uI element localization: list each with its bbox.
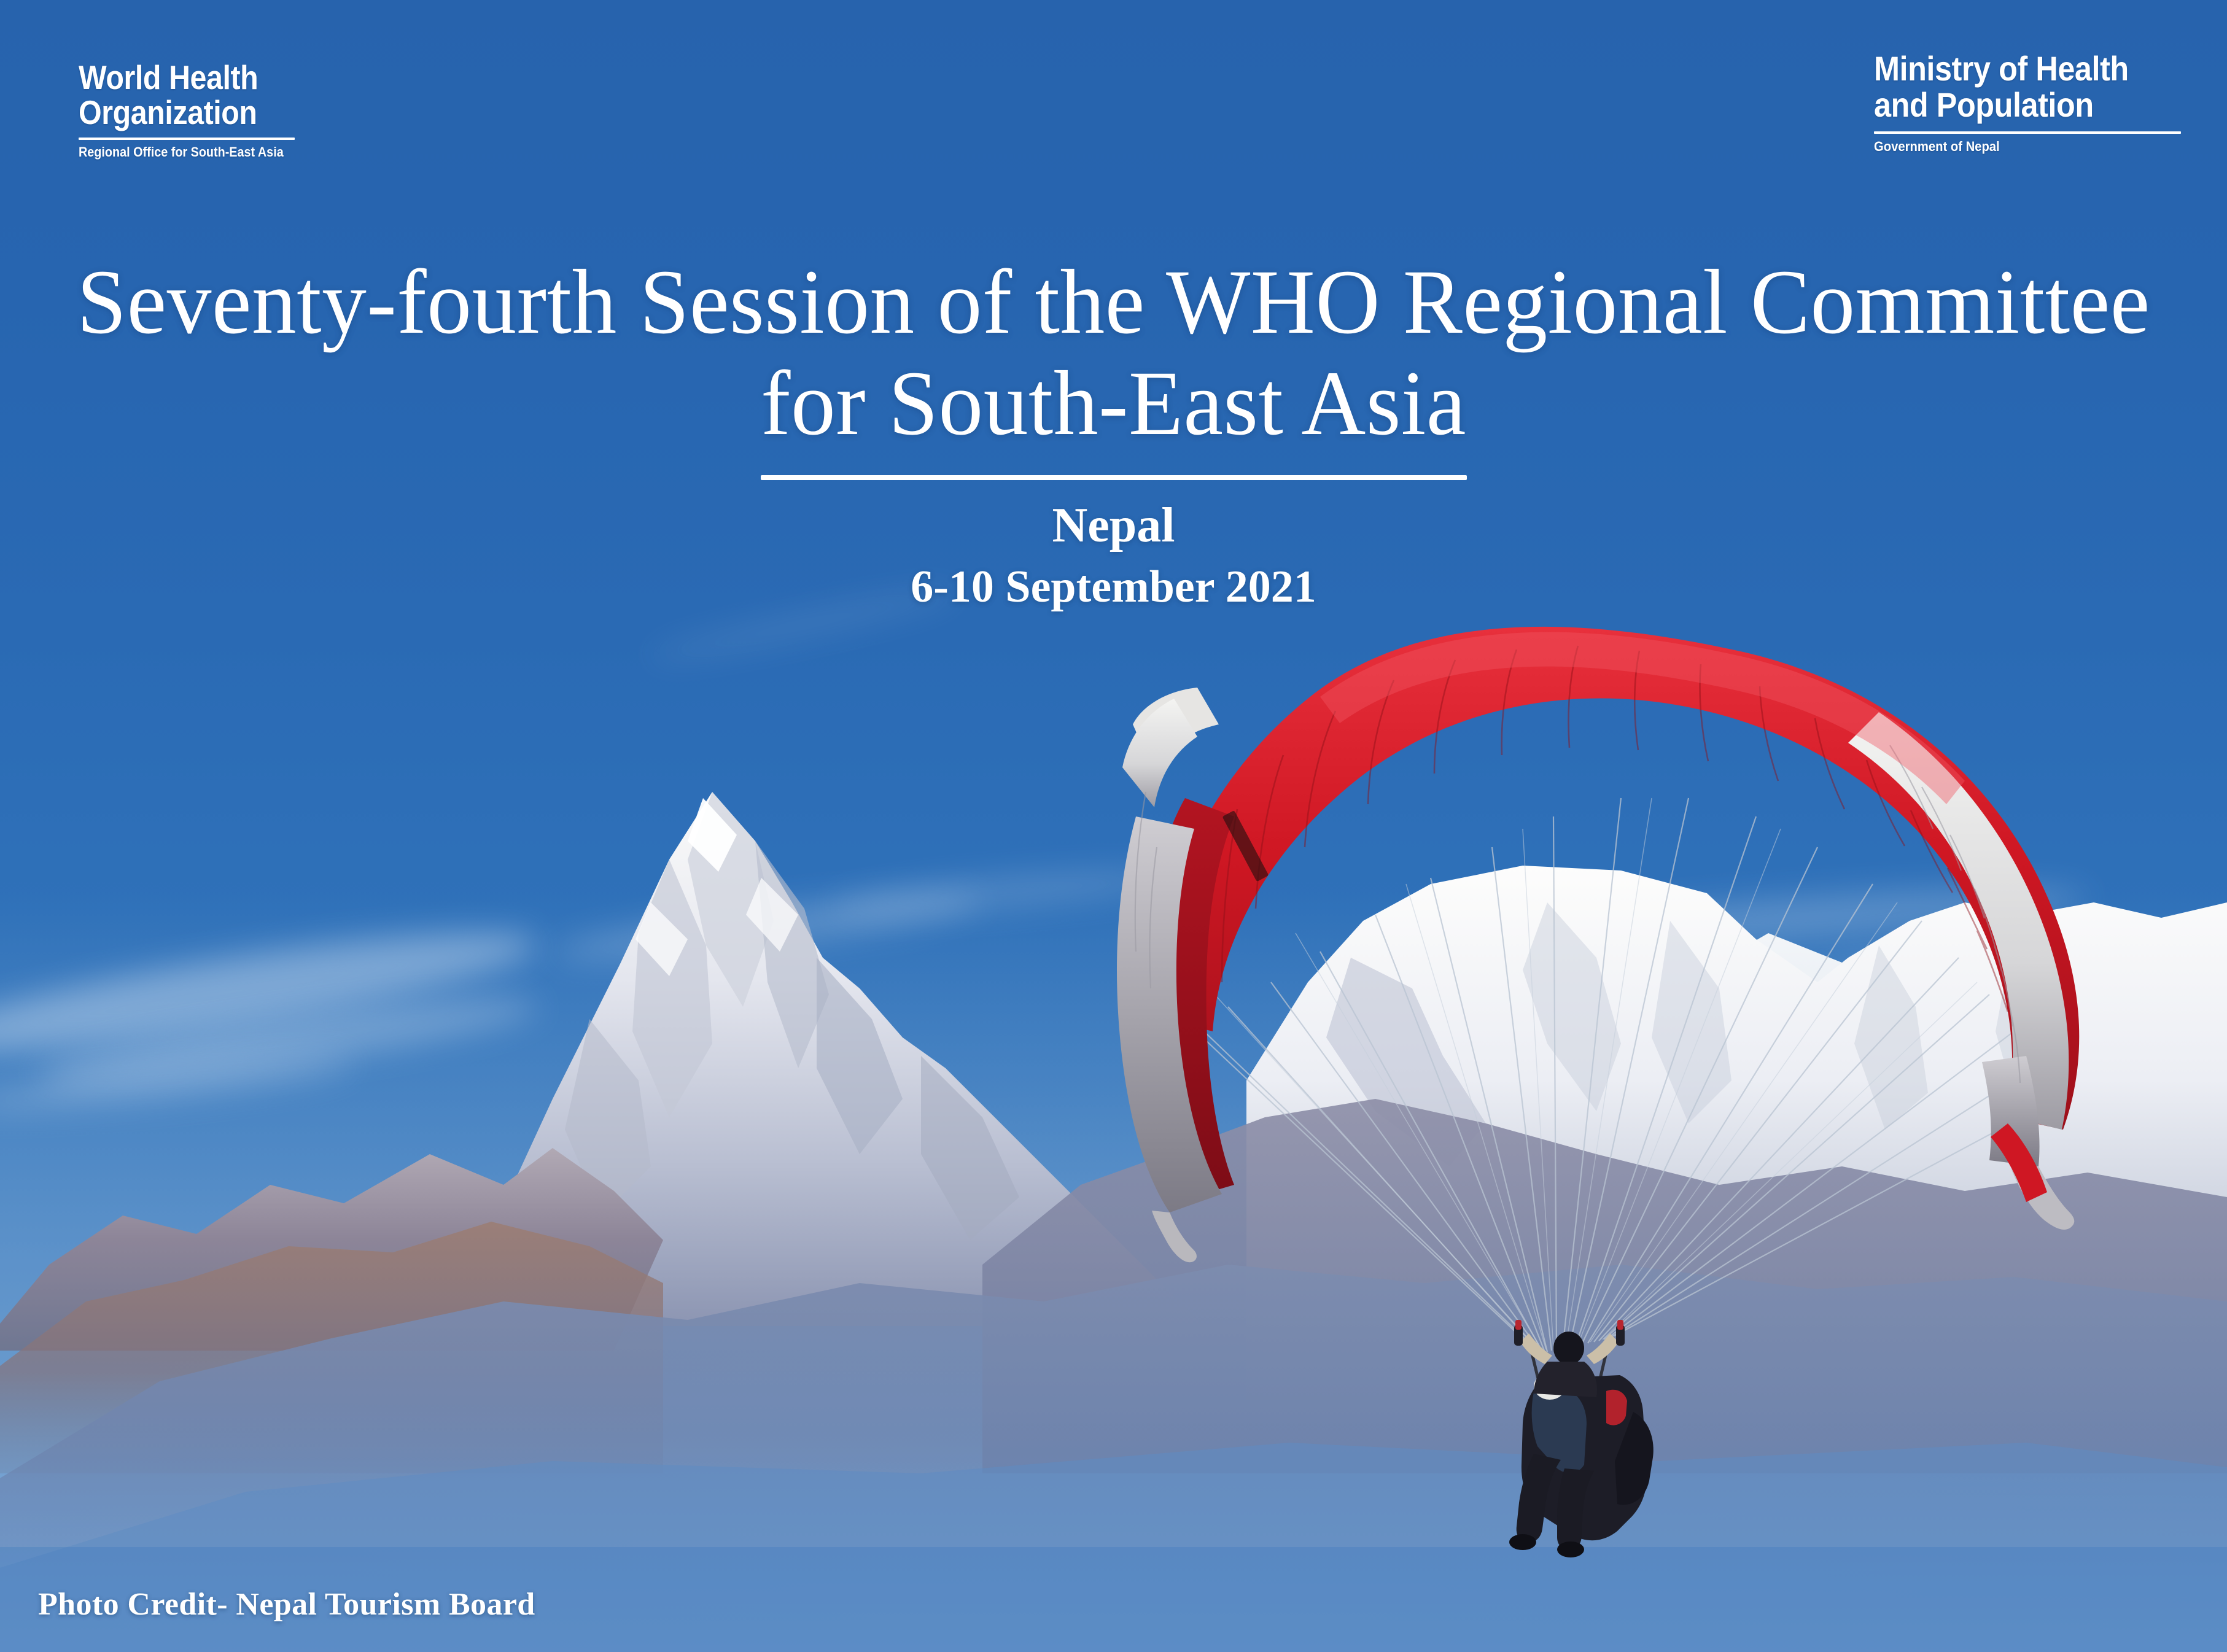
title-divider (761, 475, 1467, 480)
ministry-logo-line2: and Population (1874, 87, 2150, 123)
ministry-logo-divider (1874, 131, 2181, 134)
who-regional-committee-poster: World Health Organization Regional Offic… (0, 0, 2227, 1652)
ministry-logo-subtitle: Government of Nepal (1874, 140, 2156, 153)
event-location: Nepal (0, 498, 2227, 554)
title-block: Seventy-fourth Session of the WHO Region… (0, 252, 2227, 613)
who-logo-subtitle: Regional Office for South-East Asia (79, 145, 284, 159)
who-logo-divider (79, 138, 295, 140)
who-logo: World Health Organization Regional Offic… (79, 60, 306, 159)
who-logo-line1: World Health (79, 60, 279, 95)
ministry-of-health-logo: Ministry of Health and Population Govern… (1874, 50, 2181, 153)
event-dates: 6-10 September 2021 (0, 561, 2227, 613)
page-title: Seventy-fourth Session of the WHO Region… (33, 252, 2193, 454)
who-logo-line2: Organization (79, 95, 279, 130)
photo-credit: Photo Credit- Nepal Tourism Board (38, 1586, 535, 1623)
ministry-logo-line1: Ministry of Health (1874, 50, 2150, 87)
mountain-range (0, 0, 2227, 1652)
